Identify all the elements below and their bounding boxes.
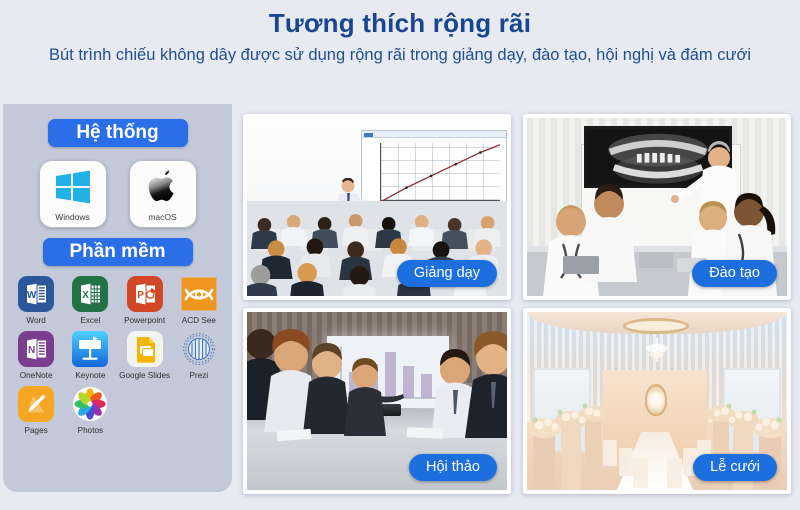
card-badge-training: Đào tạo bbox=[692, 260, 777, 287]
system-section-header: Hệ thống bbox=[48, 119, 188, 147]
keynote-icon bbox=[71, 330, 109, 368]
windows-logo-icon bbox=[53, 168, 93, 206]
card-badge-teaching: Giảng dạy bbox=[397, 260, 497, 287]
software-app-grid: W Word bbox=[3, 275, 232, 435]
svg-text:X: X bbox=[83, 290, 90, 301]
photo-lecture-hall: Giảng dạy bbox=[247, 118, 507, 296]
svg-text:N: N bbox=[28, 345, 35, 356]
gallery-card-teaching[interactable]: Giảng dạy bbox=[243, 114, 511, 300]
svg-text:W: W bbox=[27, 290, 37, 301]
app-label: Pages bbox=[25, 426, 48, 435]
app-label: Keynote bbox=[75, 371, 105, 380]
gallery-card-training[interactable]: Đào tạo bbox=[523, 114, 791, 300]
svg-text:P: P bbox=[137, 290, 144, 301]
os-tile-label: macOS bbox=[130, 212, 196, 222]
os-tile-row: Windows bbox=[3, 160, 232, 228]
os-tile-label: Windows bbox=[40, 212, 106, 222]
app-item-word[interactable]: W Word bbox=[9, 275, 63, 325]
app-label: Word bbox=[26, 316, 45, 325]
app-item-acdsee[interactable]: ACD See bbox=[172, 275, 226, 325]
card-badge-seminar: Hội thảo bbox=[409, 454, 497, 481]
card-badge-wedding: Lễ cưới bbox=[693, 454, 777, 481]
app-item-prezi[interactable]: Prezi bbox=[172, 330, 226, 380]
onenote-icon: N bbox=[17, 330, 55, 368]
google-slides-icon bbox=[126, 330, 164, 368]
app-item-google-slides[interactable]: Google Slides bbox=[118, 330, 172, 380]
powerpoint-icon: P bbox=[126, 275, 164, 313]
page-subtitle: Bút trình chiếu không dây được sử dụng r… bbox=[0, 42, 800, 68]
word-icon: W bbox=[17, 275, 55, 313]
app-label: Photos bbox=[78, 426, 104, 435]
apple-logo-icon bbox=[143, 168, 183, 206]
prezi-icon bbox=[180, 330, 218, 368]
app-label: ACD See bbox=[182, 316, 216, 325]
page-title: Tương thích rộng rãi bbox=[0, 6, 800, 40]
app-label: OneNote bbox=[20, 371, 53, 380]
acdsee-icon bbox=[180, 275, 218, 313]
photos-icon bbox=[71, 385, 109, 423]
photo-wedding-ceremony: Lễ cưới bbox=[527, 312, 787, 490]
photo-dental-training: Đào tạo bbox=[527, 118, 787, 296]
os-tile-windows[interactable]: Windows bbox=[39, 160, 107, 228]
app-item-keynote[interactable]: Keynote bbox=[63, 330, 117, 380]
pages-icon bbox=[17, 385, 55, 423]
app-item-onenote[interactable]: N OneNote bbox=[9, 330, 63, 380]
compatibility-sidebar: Hệ thống Windows bbox=[3, 104, 232, 492]
main-content: Hệ thống Windows bbox=[0, 100, 800, 510]
page-header: Tương thích rộng rãi Bút trình chiếu khô… bbox=[0, 0, 800, 100]
app-label: Prezi bbox=[190, 371, 209, 380]
app-item-excel[interactable]: X Excel bbox=[63, 275, 117, 325]
app-label: Google Slides bbox=[119, 371, 170, 380]
app-item-powerpoint[interactable]: P Powerpoint bbox=[118, 275, 172, 325]
excel-icon: X bbox=[71, 275, 109, 313]
app-item-pages[interactable]: Pages bbox=[9, 385, 63, 435]
gallery-card-seminar[interactable]: Hội thảo bbox=[243, 308, 511, 494]
app-label: Excel bbox=[80, 316, 100, 325]
app-label: Powerpoint bbox=[124, 316, 165, 325]
photo-boardroom-meeting: Hội thảo bbox=[247, 312, 507, 490]
gallery-card-wedding[interactable]: Lễ cưới bbox=[523, 308, 791, 494]
os-tile-macos[interactable]: macOS bbox=[129, 160, 197, 228]
software-section-header: Phần mềm bbox=[43, 238, 193, 266]
app-item-photos[interactable]: Photos bbox=[63, 385, 117, 435]
